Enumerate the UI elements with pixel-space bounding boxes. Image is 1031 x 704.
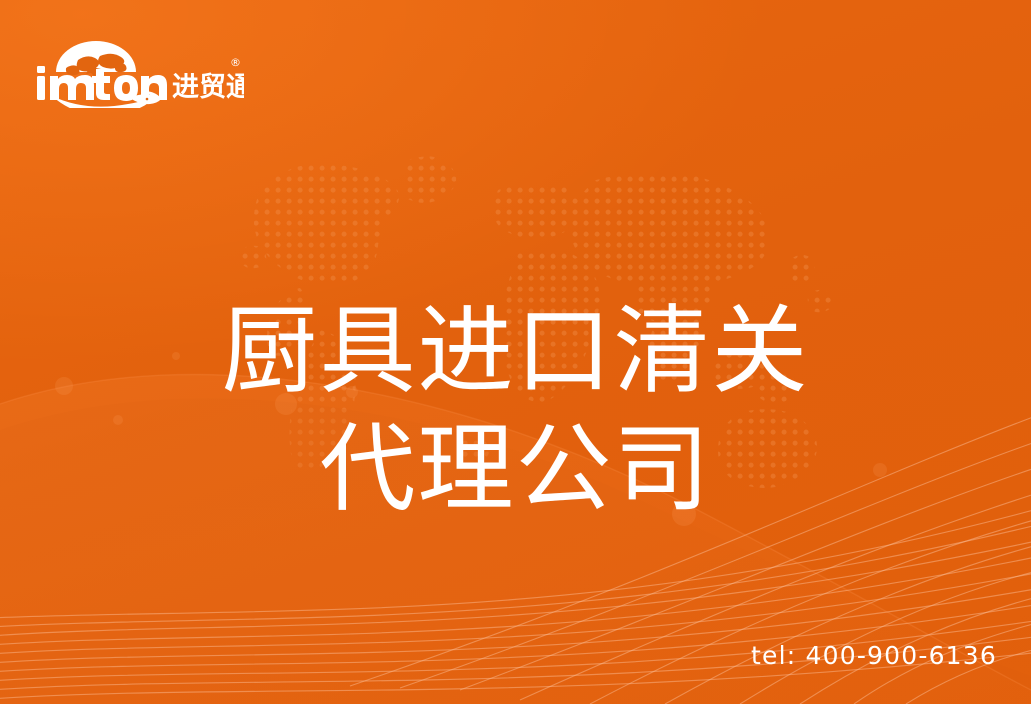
- headline-line-2: 代理公司: [0, 410, 1031, 528]
- logo-chinese-name: 进贸通: [172, 72, 244, 103]
- contact-phone[interactable]: tel: 400-900-6136: [751, 641, 997, 670]
- page-title: 厨具进口清关 代理公司: [0, 292, 1031, 528]
- headline-line-1: 厨具进口清关: [0, 292, 1031, 410]
- banner-canvas: 进贸通 ® 厨具进口清关 代理公司 tel: 400-900-6136: [0, 0, 1031, 704]
- imton-logo[interactable]: 进贸通 ®: [34, 30, 244, 108]
- logo-trademark-symbol: ®: [230, 56, 241, 69]
